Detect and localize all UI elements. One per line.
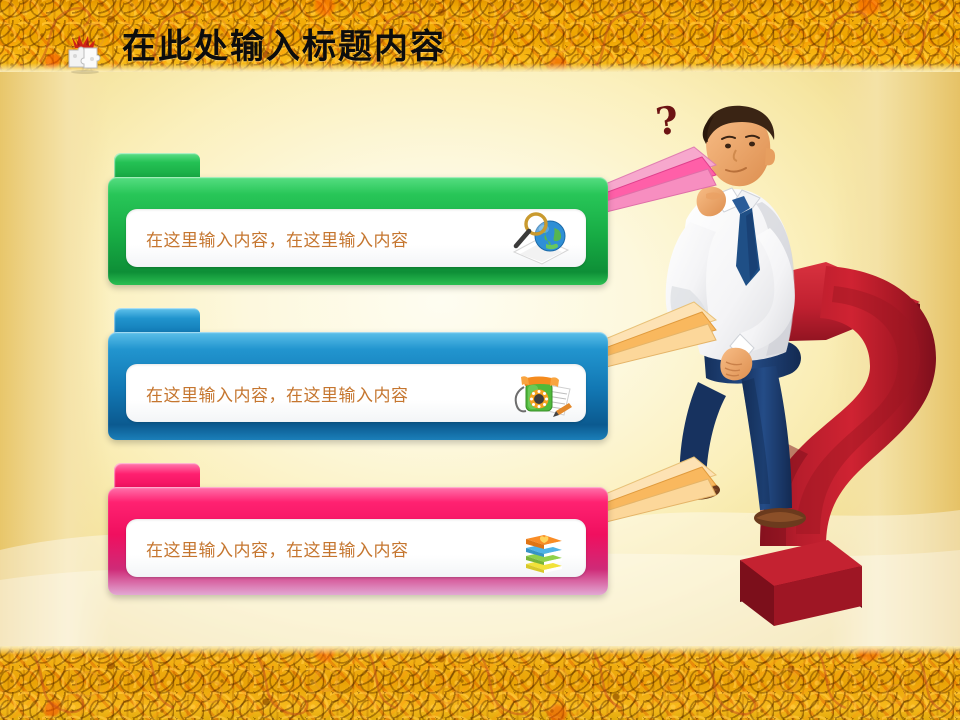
folder-body-pink: 在这里输入内容，在这里输入内容 <box>108 487 608 595</box>
folder-green[interactable]: 在这里输入内容，在这里输入内容 <box>108 153 608 285</box>
folder-tab-blue <box>114 308 200 334</box>
slide-canvas: 在此处输入标题内容 在这里输入内容，在这里输入内容 <box>0 0 960 720</box>
content-row-blue[interactable]: 在这里输入内容，在这里输入内容 <box>108 300 608 440</box>
page-title: 在此处输入标题内容 <box>122 16 446 78</box>
globe-magnifier-icon <box>506 210 576 266</box>
row-text-blue: 在这里输入内容，在这里输入内容 <box>146 381 409 406</box>
title-area: 在此处输入标题内容 <box>0 18 700 80</box>
content-row-pink[interactable]: 在这里输入内容，在这里输入内容 <box>108 455 608 595</box>
puzzle-piece-icon <box>63 34 107 74</box>
folder-tab-pink <box>114 463 200 489</box>
content-field-blue[interactable]: 在这里输入内容，在这里输入内容 <box>126 364 586 422</box>
folder-tab-green <box>114 153 200 179</box>
row-text-pink: 在这里输入内容，在这里输入内容 <box>146 536 409 561</box>
row-text-green: 在这里输入内容，在这里输入内容 <box>146 226 409 251</box>
content-field-green[interactable]: 在这里输入内容，在这里输入内容 <box>126 209 586 267</box>
folder-blue[interactable]: 在这里输入内容，在这里输入内容 <box>108 308 608 440</box>
folder-pink[interactable]: 在这里输入内容，在这里输入内容 <box>108 463 608 595</box>
content-field-pink[interactable]: 在这里输入内容，在这里输入内容 <box>126 519 586 577</box>
content-row-green[interactable]: 在这里输入内容，在这里输入内容 <box>108 145 608 285</box>
book-stack-icon <box>510 520 572 576</box>
telephone-icon <box>506 365 576 421</box>
folder-body-blue: 在这里输入内容，在这里输入内容 <box>108 332 608 440</box>
folder-body-green: 在这里输入内容，在这里输入内容 <box>108 177 608 285</box>
